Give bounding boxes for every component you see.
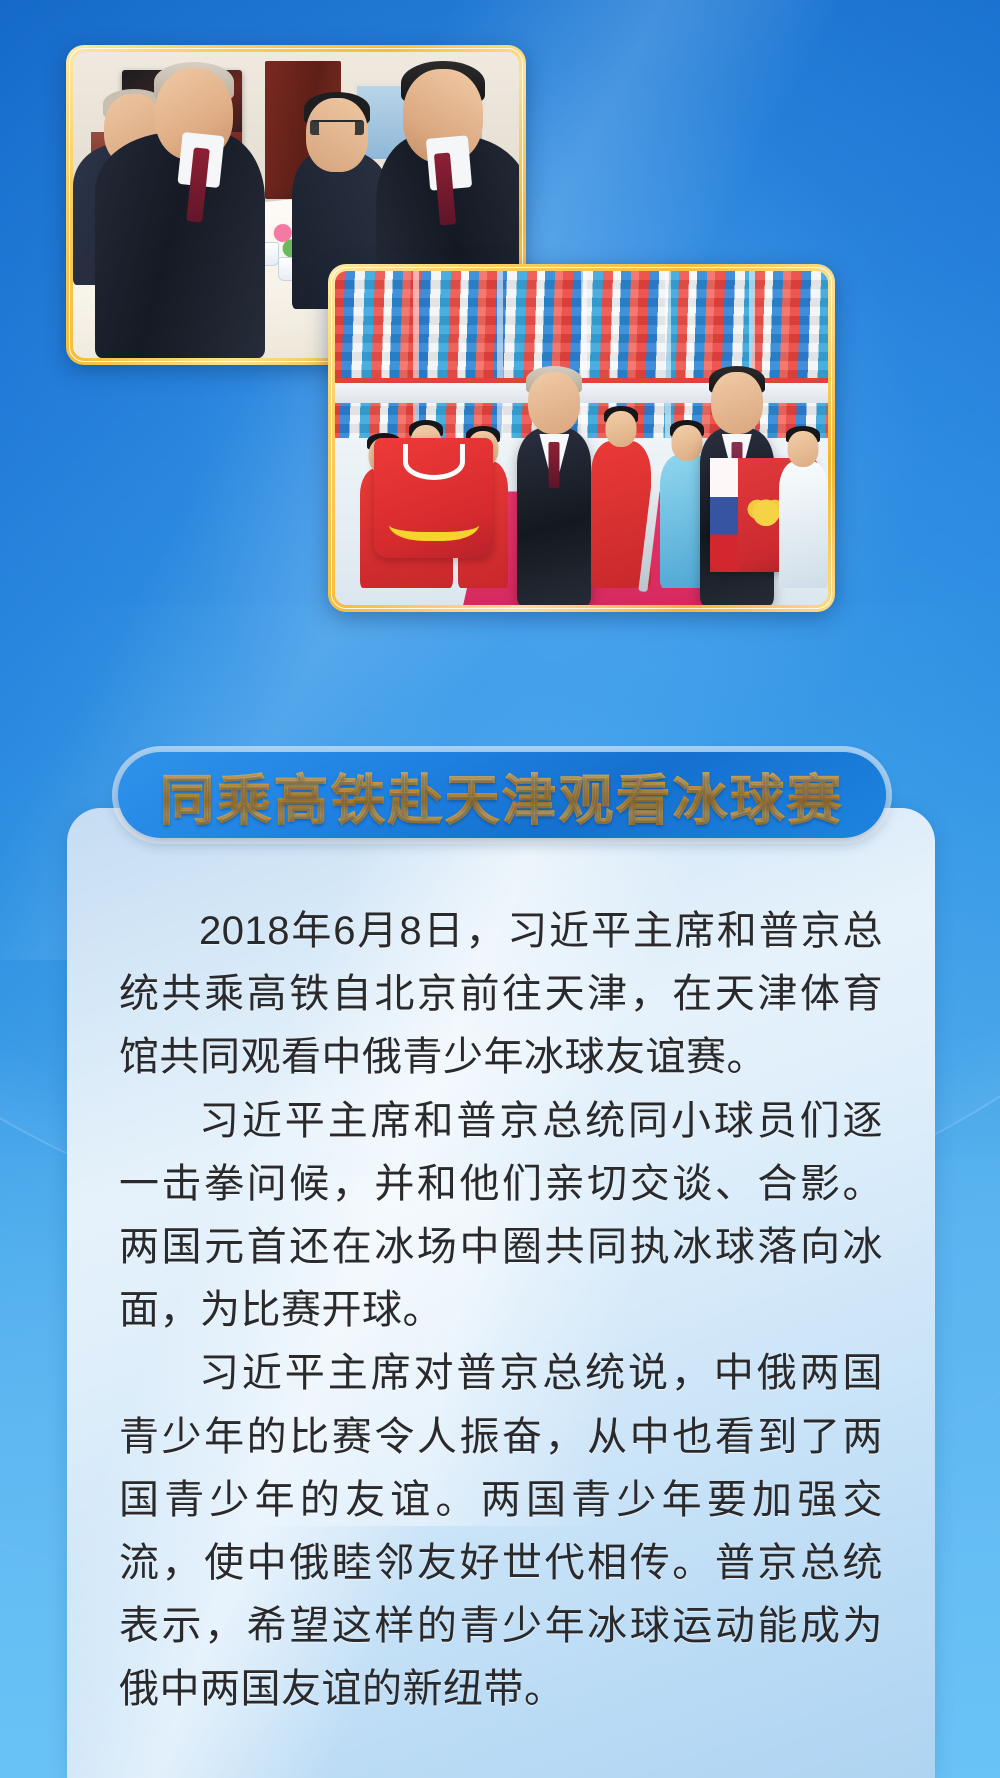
player-white-head [788, 431, 819, 467]
person-putin-train [95, 132, 264, 358]
china-jersey-collar [403, 444, 465, 480]
china-jersey-chevron [389, 501, 479, 541]
article-paragraph-2: 习近平主席和普京总统同小球员们逐一击拳问候，并和他们亲切交谈、合影。两国元首还在… [119, 1090, 883, 1343]
title-banner: 同乘高铁赴天津观看冰球赛 [118, 752, 886, 838]
ice-rink-scene [335, 271, 828, 605]
poster-root: 2018年6月8日，习近平主席和普京总统共乘高铁自北京前往天津，在天津体育馆共同… [0, 0, 1000, 1778]
page-title: 同乘高铁赴天津观看冰球赛 [160, 756, 844, 835]
article-panel: 2018年6月8日，习近平主席和普京总统共乘高铁自北京前往天津，在天津体育馆共同… [67, 808, 935, 1778]
article-paragraph-3: 习近平主席对普京总统说，中俄两国青少年的比赛令人振奋，从中也看到了两国青少年的友… [119, 1342, 883, 1721]
interpreter-head [306, 98, 368, 172]
russia-jersey-tricolor [710, 458, 738, 572]
putin-rink-tie [549, 442, 560, 488]
xi-rink-head [711, 372, 763, 434]
putin-rink-head [528, 372, 580, 434]
photo-ice-hockey-rink-image [335, 271, 828, 605]
interpreter-glasses-icon [310, 120, 364, 135]
goalie-head [605, 411, 636, 447]
photo-ice-hockey-rink [328, 264, 835, 612]
article-paragraph-1: 2018年6月8日，习近平主席和普京总统共乘高铁自北京前往天津，在天津体育馆共同… [119, 900, 883, 1090]
person-putin-rink [517, 428, 591, 605]
player-blue-head [672, 425, 703, 461]
china-team-jersey [374, 438, 492, 558]
article-body: 2018年6月8日，习近平主席和普京总统共乘高铁自北京前往天津，在天津体育馆共同… [119, 900, 883, 1721]
young-player-white [779, 461, 828, 588]
